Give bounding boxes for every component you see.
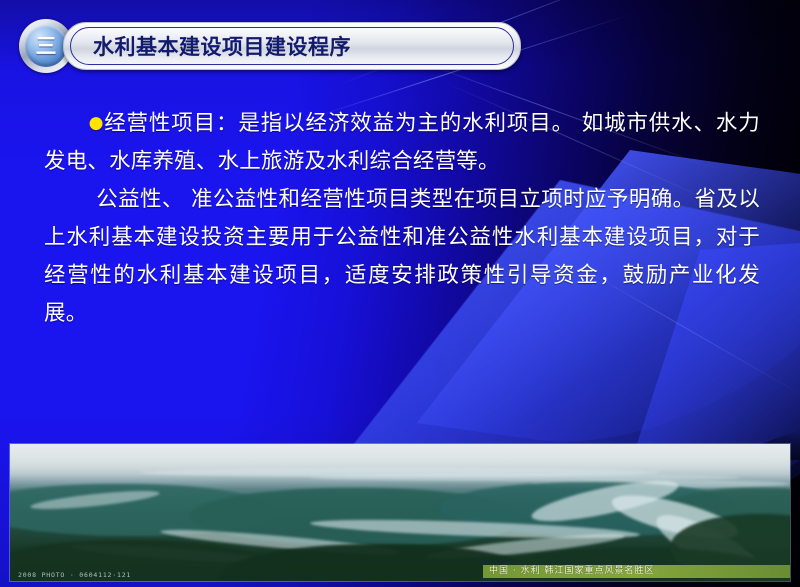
slide-body: ●经营性项目：是指以经济效益为主的水利项目。 如城市供水、水力发电、水库养殖、水… [44,104,760,333]
slide-header: 三 水利基本建设项目建设程序 [0,0,800,90]
bullet-icon: ● [88,113,104,133]
landscape-photo [10,444,790,581]
section-number-badge-inner: 三 [25,25,67,67]
slide-title-pill-border: 水利基本建设项目建设程序 [70,27,514,65]
body-paragraph-2: 公益性、 准公益性和经营性项目类型在项目立项时应予明确。省及以上水利基本建设投资… [44,181,760,333]
body-paragraph-1-text: 经营性项目：是指以经济效益为主的水利项目。 如城市供水、水力发电、水库养殖、水上… [44,111,760,174]
body-paragraph-2-text: 公益性、 准公益性和经营性项目类型在项目立项时应予明确。省及以上水利基本建设投资… [44,187,760,326]
photo-caption: 中国 · 水利 韩江国家重点风景名胜区 [483,565,654,578]
slide-canvas: 三 水利基本建设项目建设程序 ●经营性项目：是指以经济效益为主的水利项目。 如城… [0,0,800,587]
page-title: 水利基本建设项目建设程序 [93,31,351,61]
landscape-photo-image [10,444,790,581]
photo-caption-band: 中国 · 水利 韩江国家重点风景名胜区 [483,565,790,578]
photo-watermark: 2008 PHOTO · 0604112·121 [18,571,131,579]
section-number-label: 三 [36,36,57,57]
slide-title-pill: 水利基本建设项目建设程序 [63,22,521,70]
body-paragraph-1: ●经营性项目：是指以经济效益为主的水利项目。 如城市供水、水力发电、水库养殖、水… [44,104,760,181]
